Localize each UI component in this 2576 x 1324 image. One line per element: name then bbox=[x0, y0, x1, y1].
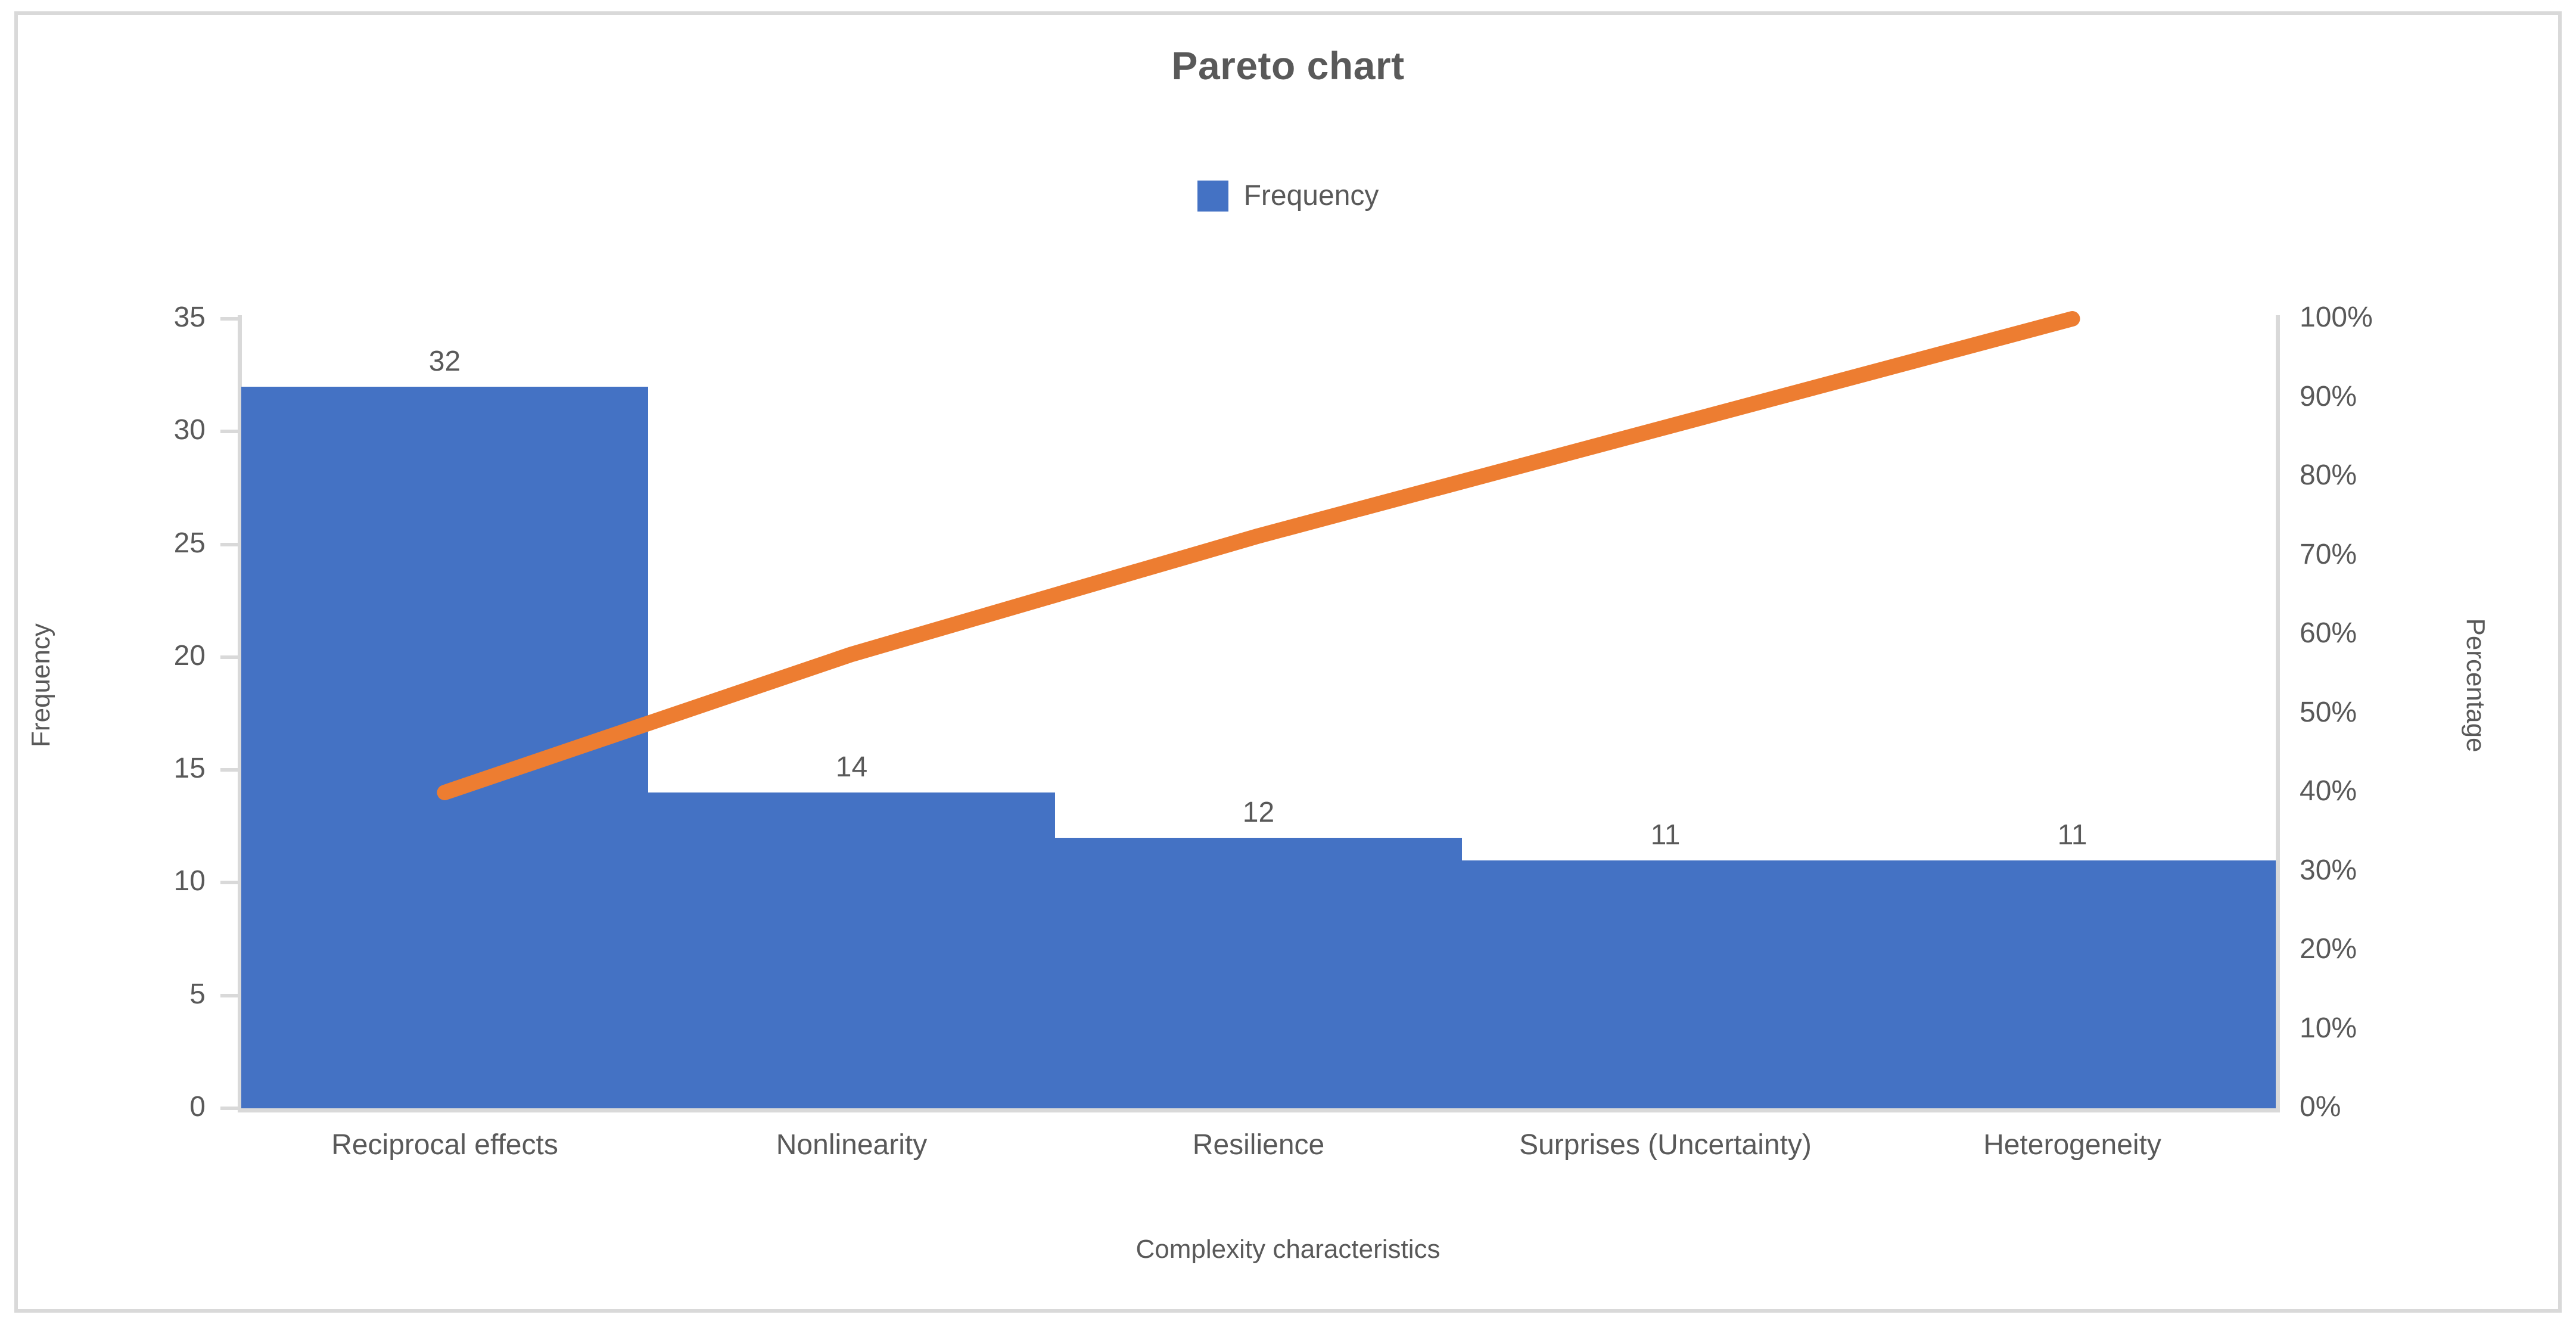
y-axis-right-tick-label: 20% bbox=[2300, 935, 2454, 964]
y-axis-left-tick-label: 10 bbox=[71, 867, 206, 896]
x-axis-tick-label: Surprises (Uncertainty) bbox=[1462, 1131, 1869, 1160]
y-axis-left-tick bbox=[220, 881, 238, 884]
x-axis-tick-label: Heterogeneity bbox=[1869, 1131, 2276, 1160]
y-axis-left-title: Frequency bbox=[26, 566, 56, 804]
x-axis-tick-label: Nonlinearity bbox=[648, 1131, 1055, 1160]
legend-item-label: Frequency bbox=[1244, 182, 1379, 210]
cumulative-line-series bbox=[241, 319, 2276, 1108]
y-axis-right-tick-label: 70% bbox=[2300, 540, 2454, 569]
chart-legend: Frequency bbox=[0, 181, 2576, 212]
y-axis-left-tick bbox=[220, 317, 238, 321]
y-axis-right-tick-label: 100% bbox=[2300, 303, 2454, 332]
cumulative-line-path bbox=[445, 319, 2073, 792]
y-axis-left-tick bbox=[220, 994, 238, 997]
y-axis-left-tick bbox=[220, 768, 238, 772]
y-axis-left-tick bbox=[220, 655, 238, 659]
y-axis-left-tick-label: 30 bbox=[71, 416, 206, 445]
y-axis-left-tick bbox=[220, 543, 238, 546]
y-axis-right-tick-label: 10% bbox=[2300, 1014, 2454, 1043]
y-axis-left-tick-label: 35 bbox=[71, 303, 206, 332]
plot-area: 3214121111 bbox=[241, 319, 2276, 1108]
pareto-chart: Pareto chart Frequency 05101520253035 0%… bbox=[0, 0, 2576, 1324]
x-axis-title: Complexity characteristics bbox=[0, 1235, 2576, 1264]
legend-item-frequency[interactable]: Frequency bbox=[1197, 181, 1379, 212]
y-axis-left-tick-label: 25 bbox=[71, 529, 206, 558]
chart-title: Pareto chart bbox=[0, 43, 2576, 88]
x-axis-tick-label: Reciprocal effects bbox=[241, 1131, 648, 1160]
y-axis-left-tick bbox=[220, 1107, 238, 1110]
y-axis-right-tick-label: 90% bbox=[2300, 383, 2454, 411]
y-axis-right-line bbox=[2276, 315, 2280, 1112]
y-axis-right-tick-label: 0% bbox=[2300, 1093, 2454, 1121]
y-axis-right-tick-label: 30% bbox=[2300, 856, 2454, 885]
legend-swatch-square-icon bbox=[1197, 181, 1228, 212]
y-axis-right-tick-label: 80% bbox=[2300, 461, 2454, 490]
y-axis-right-tick-label: 60% bbox=[2300, 619, 2454, 648]
x-axis-line bbox=[238, 1108, 2280, 1112]
x-axis-tick-label: Resilience bbox=[1055, 1131, 1462, 1160]
y-axis-left-tick-label: 20 bbox=[71, 642, 206, 670]
y-axis-left-tick-label: 15 bbox=[71, 754, 206, 783]
y-axis-right-tick-label: 40% bbox=[2300, 777, 2454, 806]
y-axis-left-tick-label: 0 bbox=[71, 1093, 206, 1121]
y-axis-left-tick-label: 5 bbox=[71, 980, 206, 1009]
y-axis-right-title: Percentage bbox=[2460, 566, 2490, 804]
y-axis-right-tick-label: 50% bbox=[2300, 698, 2454, 727]
y-axis-left-tick bbox=[220, 430, 238, 433]
